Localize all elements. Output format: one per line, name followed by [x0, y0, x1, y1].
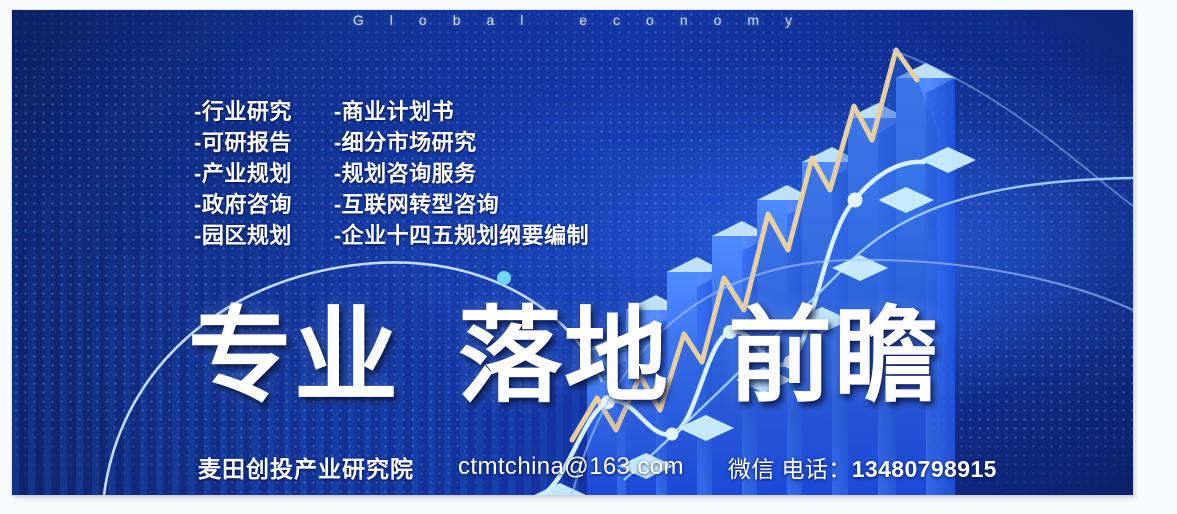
headline-slogan: 专业 落地 前瞻 — [188, 305, 940, 409]
footer-contact-row: 麦田创投产业研究院 ctmtchina@163.com 微信 电话：134807… — [198, 450, 997, 484]
orbit-arcs — [12, 10, 1133, 495]
headline-word-1: 专业 — [188, 305, 400, 409]
service-item: -规划咨询服务 — [334, 158, 589, 189]
service-item: -政府咨询 — [194, 189, 292, 220]
services-left-column: -行业研究 -可研报告 -产业规划 -政府咨询 -园区规划 — [194, 96, 292, 251]
services-right-column: -商业计划书 -细分市场研究 -规划咨询服务 -互联网转型咨询 -企业十四五规划… — [334, 96, 589, 251]
service-item: -企业十四五规划纲要编制 — [334, 220, 589, 251]
promo-banner: Global economy -行业研究 -可研报告 -产业规划 -政府咨询 -… — [12, 10, 1133, 495]
headline-word-2: 落地 — [458, 305, 670, 409]
headline-word-3: 前瞻 — [728, 305, 940, 409]
service-item: -商业计划书 — [334, 96, 589, 127]
contact-label: 微信 电话： — [728, 456, 852, 482]
outer-orbit-arc — [892, 50, 1133, 206]
service-item: -可研报告 — [194, 127, 292, 158]
screenshot-root: Global economy -行业研究 -可研报告 -产业规划 -政府咨询 -… — [0, 0, 1177, 514]
service-item: -互联网转型咨询 — [334, 189, 589, 220]
phone-block: 微信 电话：13480798915 — [728, 450, 997, 484]
company-name: 麦田创投产业研究院 — [198, 450, 414, 484]
service-item: -园区规划 — [194, 220, 292, 251]
header-word: Global economy — [12, 12, 1133, 38]
service-item: -行业研究 — [194, 96, 292, 127]
services-lists: -行业研究 -可研报告 -产业规划 -政府咨询 -园区规划 -商业计划书 -细分… — [194, 96, 589, 251]
orbit-node-dot — [497, 271, 511, 285]
phone-number: 13480798915 — [852, 456, 997, 482]
service-item: -细分市场研究 — [334, 127, 589, 158]
service-item: -产业规划 — [194, 158, 292, 189]
email-address: ctmtchina@163.com — [458, 453, 684, 481]
